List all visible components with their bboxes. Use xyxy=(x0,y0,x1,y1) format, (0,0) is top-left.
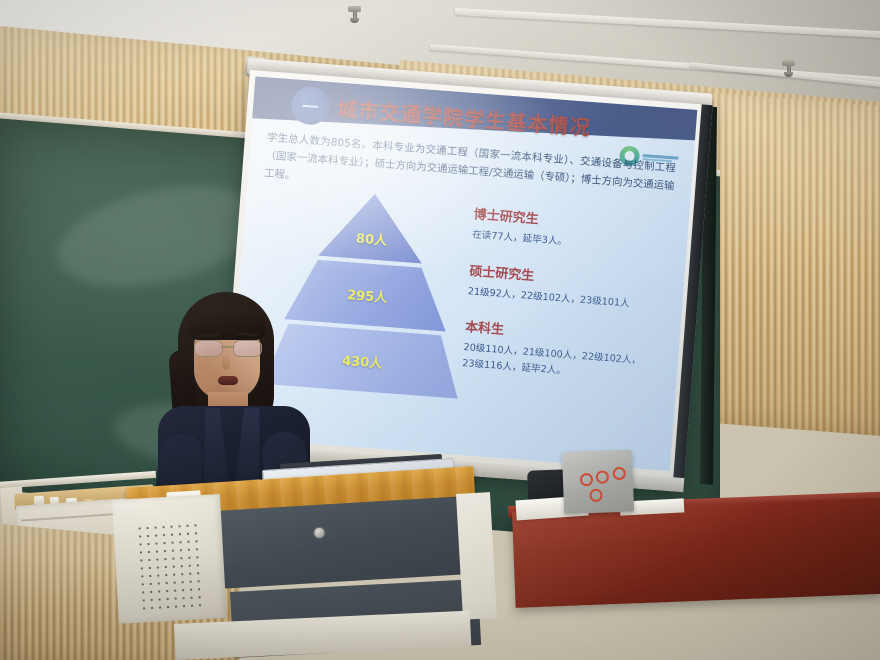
laptop-sticker-icon xyxy=(589,489,602,502)
laptop-sticker-icon xyxy=(596,470,609,483)
laptop-sticker-icon xyxy=(613,467,626,480)
sprinkler-icon xyxy=(348,6,361,23)
section-number-label: 一 xyxy=(302,93,320,118)
laptop-sticker-icon xyxy=(580,473,593,486)
legend-item-undergraduate: 本科生 20级110人，21级100人，22级102人， 23级116人，延毕2… xyxy=(462,316,672,387)
lectern-speaker-left xyxy=(112,494,227,624)
pyramid-tier-value: 80人 xyxy=(355,227,387,248)
pyramid-tier-value: 430人 xyxy=(342,349,383,371)
lectern-speaker-right xyxy=(456,492,497,620)
mouth xyxy=(218,376,238,385)
pyramid-tier-value: 295人 xyxy=(347,284,388,306)
pyramid-legend: 博士研究生 在读77人，延毕3人。 硕士研究生 21级92人，22级102人，2… xyxy=(460,203,679,403)
wood-slat-wall xyxy=(700,92,880,437)
nose xyxy=(222,354,230,370)
lock-icon[interactable] xyxy=(313,526,326,539)
silver-laptop[interactable] xyxy=(562,450,634,514)
pyramid-tier-doctoral: 80人 xyxy=(318,190,427,264)
speaker-grille-icon xyxy=(135,521,206,611)
legend-item-master: 硕士研究生 21级92人，22级102人，23级101人 xyxy=(467,260,675,315)
sprinkler-icon xyxy=(782,60,795,77)
lecture-hall-photo: 一 城市交通学院学生基本情况 学生总人数为805名。本科专业为交通工程（国家一流… xyxy=(0,0,880,660)
multimedia-lectern[interactable] xyxy=(112,474,484,660)
